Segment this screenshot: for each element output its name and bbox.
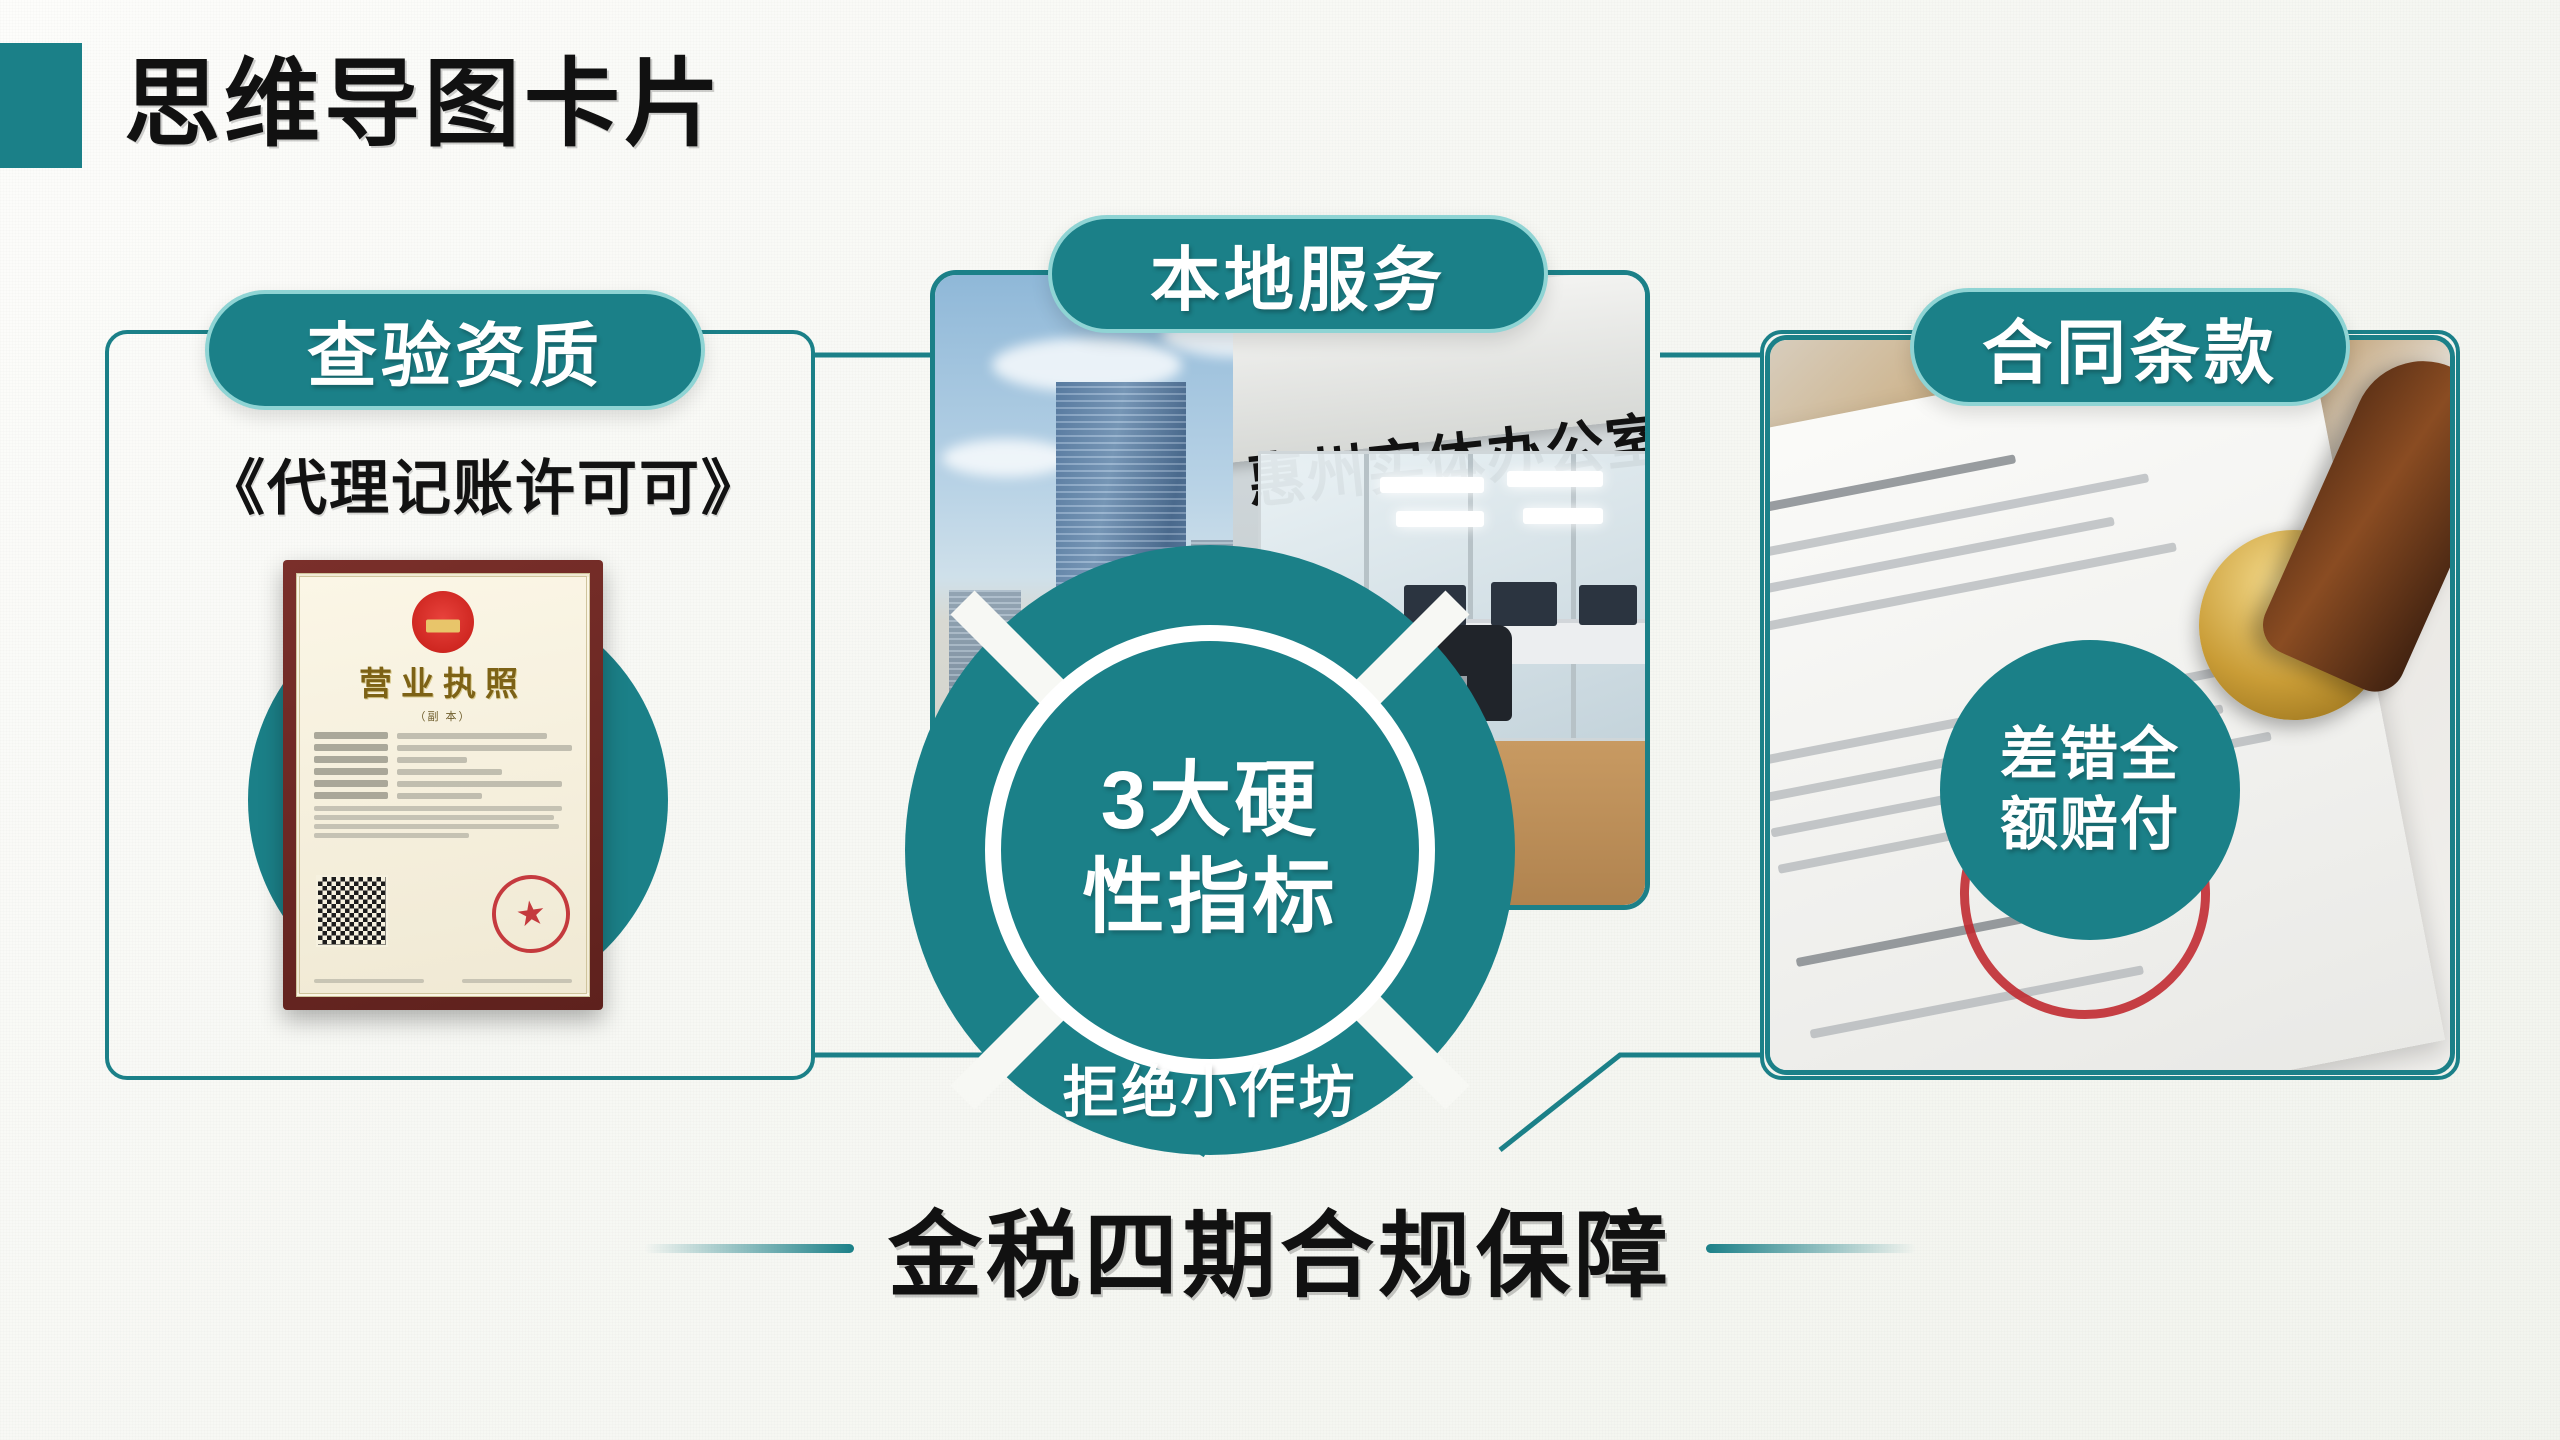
card-right-highlight: 差错全 额赔付: [1940, 640, 2240, 940]
national-emblem-icon: [412, 591, 474, 653]
red-seal-icon: ★: [487, 870, 575, 958]
card-left-badge[interactable]: 查验资质: [205, 290, 705, 410]
qr-code-icon: [316, 875, 388, 947]
footer-text: 金税四期合规保障: [888, 1180, 1672, 1316]
highlight-line1: 差错全: [2000, 720, 2180, 790]
hub-label-line1: 3大硬: [1101, 753, 1320, 850]
highlight-line2: 额赔付: [2000, 790, 2180, 860]
footer-rule-right: [1706, 1244, 1916, 1253]
card-right-badge[interactable]: 合同条款: [1910, 288, 2350, 406]
hub-inner-circle: 3大硬 性指标: [985, 625, 1435, 1075]
center-badge[interactable]: 本地服务: [1048, 215, 1548, 333]
license-subtitle: （副 本）: [314, 708, 572, 724]
business-license-image: 营业执照 （副 本） ★: [283, 560, 603, 1010]
license-title: 营业执照: [314, 657, 572, 705]
hub-label-line2: 性指标: [1082, 850, 1337, 947]
center-hub-wheel: 3大硬 性指标 拒绝小作坊: [905, 545, 1515, 1155]
hub-caption: 拒绝小作坊: [1063, 1048, 1358, 1129]
footer-caption: 金税四期合规保障: [0, 1180, 2560, 1316]
card-left-subtitle: 《代理记账许可可》: [205, 440, 715, 527]
footer-rule-left: [644, 1244, 854, 1253]
